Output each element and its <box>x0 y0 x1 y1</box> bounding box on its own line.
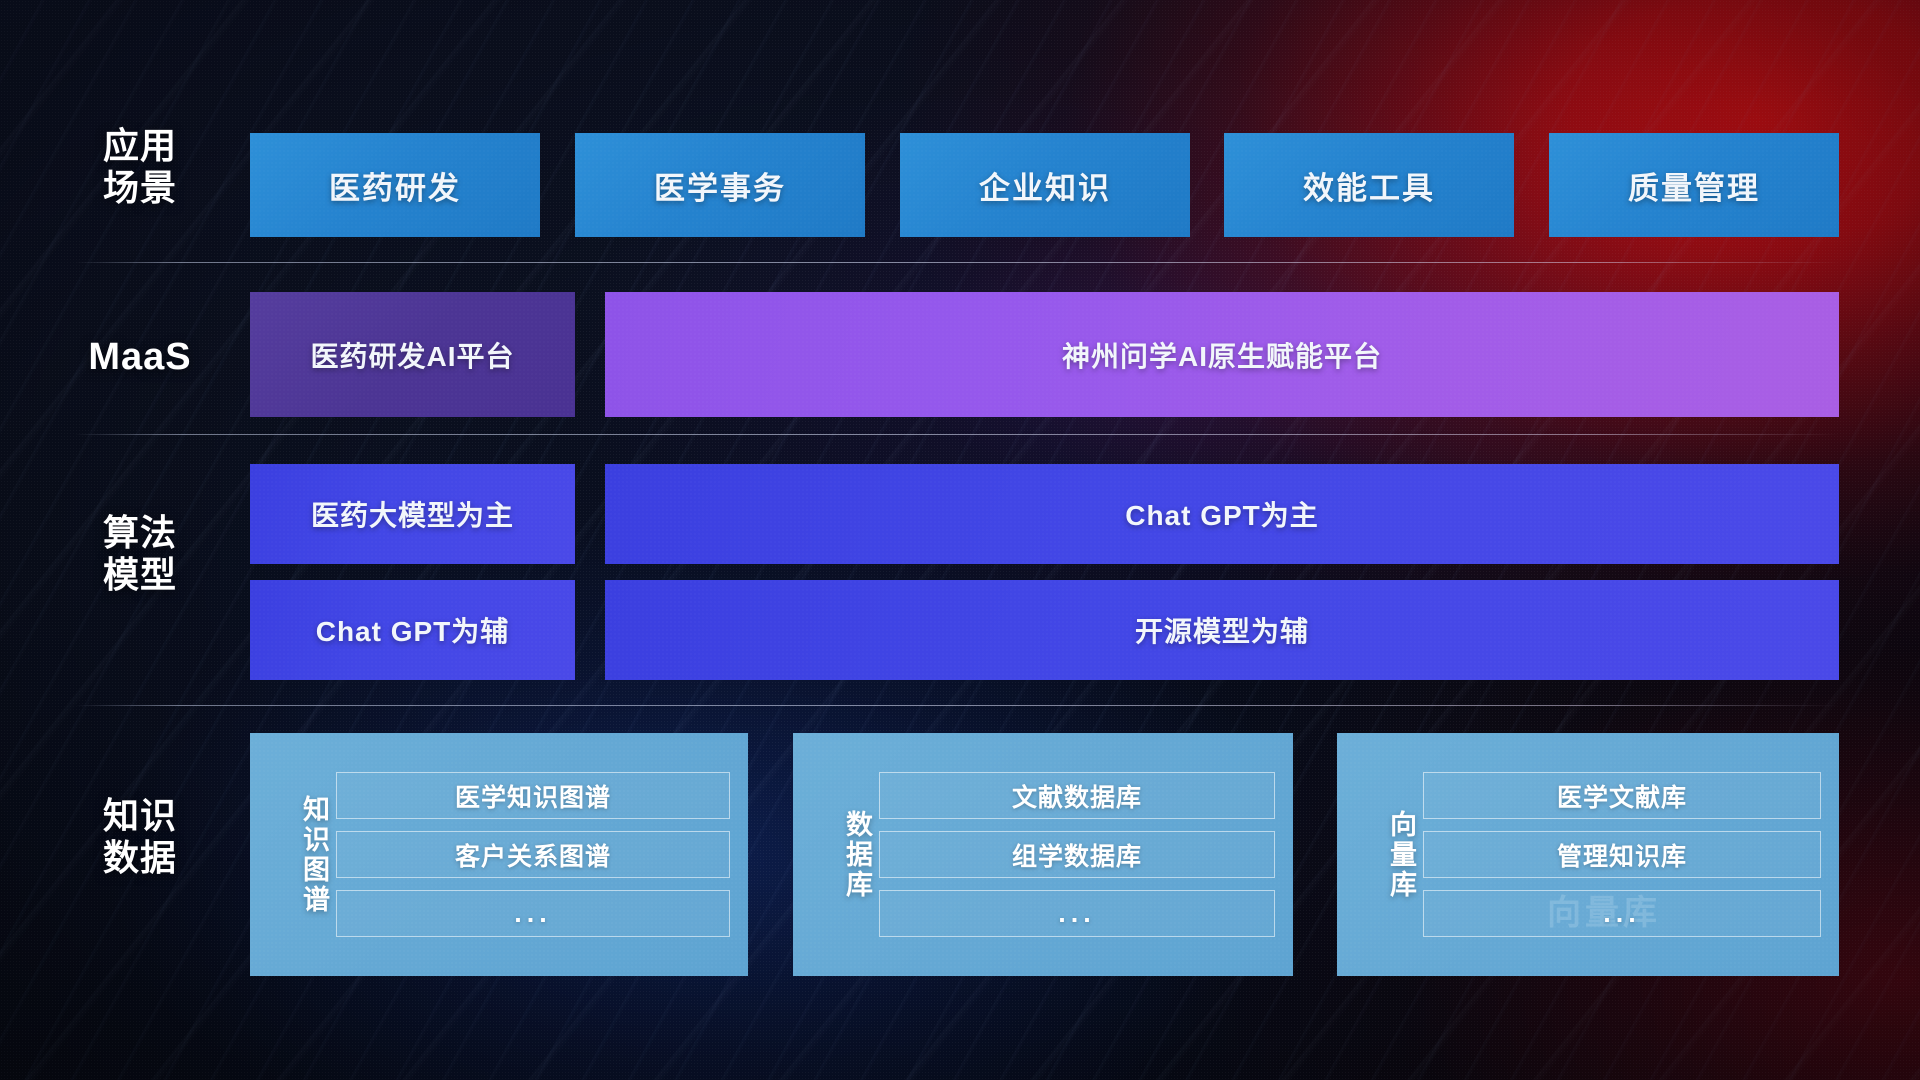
knowledge-item-2-2[interactable]: 组学数据库 <box>879 831 1275 878</box>
knowledge-panel-items-1: 医学知识图谱 客户关系图谱 ... <box>330 772 748 937</box>
app-scenario-label-3: 企业知识 <box>979 163 1111 208</box>
app-scenario-label-1: 医药研发 <box>329 163 461 208</box>
app-scenario-label-4: 效能工具 <box>1303 163 1435 208</box>
maas-platform-box-1[interactable]: 医药研发AI平台 <box>250 292 575 417</box>
knowledge-item-1-1[interactable]: 医学知识图谱 <box>336 772 730 819</box>
architecture-diagram: 应用 场景 医药研发 医学事务 企业知识 效能工具 质量管理 MaaS 医药研发… <box>0 0 1920 1080</box>
app-scenario-box-5[interactable]: 质量管理 <box>1549 133 1839 237</box>
app-scenario-label-2: 医学事务 <box>654 163 786 208</box>
row-divider-2 <box>75 434 1840 435</box>
knowledge-panel-side-label-3: 向量库 <box>1351 810 1417 900</box>
algorithm-model-label-1: 医药大模型为主 <box>311 494 514 534</box>
knowledge-item-2-3[interactable]: ... <box>879 890 1275 937</box>
algorithm-model-label-4: 开源模型为辅 <box>1135 610 1309 650</box>
knowledge-item-2-1[interactable]: 文献数据库 <box>879 772 1275 819</box>
app-scenario-box-3[interactable]: 企业知识 <box>900 133 1190 237</box>
row-divider-1 <box>75 262 1840 263</box>
app-scenario-box-2[interactable]: 医学事务 <box>575 133 865 237</box>
maas-platform-box-2[interactable]: 神州问学AI原生赋能平台 <box>605 292 1839 417</box>
knowledge-panel-knowledge-graph[interactable]: 知识图谱 医学知识图谱 客户关系图谱 ... <box>250 733 748 976</box>
knowledge-panel-side-label-2: 数据库 <box>807 810 873 900</box>
knowledge-panel-vector-store[interactable]: 向量库 医学文献库 管理知识库 ... 向量库 <box>1337 733 1839 976</box>
algorithm-model-label-2: Chat GPT为主 <box>1125 494 1319 534</box>
knowledge-item-3-3[interactable]: ... <box>1423 890 1821 937</box>
row-label-algorithm: 算法 模型 <box>75 512 205 597</box>
knowledge-panel-database[interactable]: 数据库 文献数据库 组学数据库 ... <box>793 733 1293 976</box>
app-scenario-box-1[interactable]: 医药研发 <box>250 133 540 237</box>
algorithm-model-box-secondary-left[interactable]: Chat GPT为辅 <box>250 580 575 680</box>
algorithm-model-box-secondary-right[interactable]: 开源模型为辅 <box>605 580 1839 680</box>
knowledge-item-1-3[interactable]: ... <box>336 890 730 937</box>
knowledge-item-3-1[interactable]: 医学文献库 <box>1423 772 1821 819</box>
maas-platform-label-1: 医药研发AI平台 <box>310 335 514 375</box>
knowledge-panel-items-2: 文献数据库 组学数据库 ... <box>873 772 1293 937</box>
slide-canvas: 应用 场景 医药研发 医学事务 企业知识 效能工具 质量管理 MaaS 医药研发… <box>0 0 1920 1080</box>
knowledge-panel-side-label-1: 知识图谱 <box>264 795 330 915</box>
knowledge-item-3-2[interactable]: 管理知识库 <box>1423 831 1821 878</box>
app-scenario-label-5: 质量管理 <box>1628 163 1760 208</box>
row-label-application: 应用 场景 <box>75 125 205 210</box>
algorithm-model-label-3: Chat GPT为辅 <box>316 610 510 650</box>
algorithm-model-box-primary-right[interactable]: Chat GPT为主 <box>605 464 1839 564</box>
maas-platform-label-2: 神州问学AI原生赋能平台 <box>1062 335 1382 375</box>
knowledge-item-1-2[interactable]: 客户关系图谱 <box>336 831 730 878</box>
knowledge-panel-items-3: 医学文献库 管理知识库 ... <box>1417 772 1839 937</box>
row-label-knowledge: 知识 数据 <box>75 795 205 880</box>
row-label-maas: MaaS <box>75 335 205 380</box>
app-scenario-box-4[interactable]: 效能工具 <box>1224 133 1514 237</box>
row-divider-3 <box>75 705 1840 706</box>
algorithm-model-box-primary-left[interactable]: 医药大模型为主 <box>250 464 575 564</box>
